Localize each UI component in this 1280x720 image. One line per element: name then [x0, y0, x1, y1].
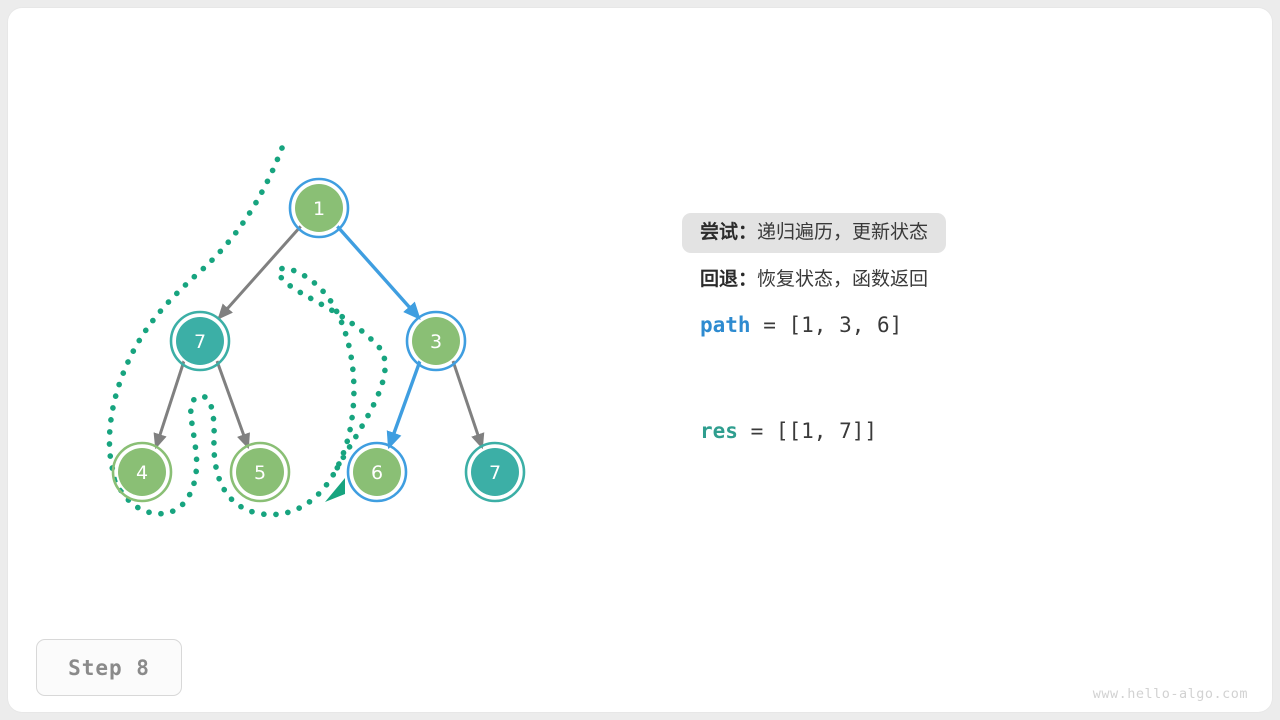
watermark: www.hello-algo.com	[1093, 686, 1248, 702]
node-1-label: 1	[313, 198, 325, 220]
node-7-left-label: 7	[194, 331, 206, 353]
node-6-label: 6	[371, 462, 383, 484]
path-value: [1, 3, 6]	[789, 313, 903, 337]
tree-node-1[interactable]: 1	[290, 179, 348, 237]
edge-1-to-3	[337, 226, 419, 318]
step-label: Step 8	[68, 656, 150, 680]
edge-1-to-7left	[219, 226, 301, 318]
try-row: 尝试：递归遍历，更新状态	[682, 213, 946, 253]
res-variable: res	[700, 419, 738, 443]
backtrack-row: 回退：恢复状态，函数返回	[686, 270, 1206, 289]
path-equals: =	[751, 313, 789, 337]
node-5-label: 5	[254, 462, 266, 484]
node-3-label: 3	[430, 331, 442, 353]
path-statement: path = [1, 3, 6]	[686, 313, 1206, 337]
try-value: 递归遍历，更新状态	[757, 221, 928, 243]
backtrack-label: 回退：	[700, 268, 757, 290]
edge-7left-to-5	[217, 361, 248, 447]
edge-3-to-6	[389, 361, 420, 447]
screenshot-root: 1 7 3 4	[0, 0, 1280, 720]
backtrack-value: 恢复状态，函数返回	[757, 268, 928, 290]
tree-node-7-right[interactable]: 7	[466, 443, 524, 501]
tree-nodes: 1 7 3 4	[113, 179, 524, 501]
edge-3-to-7right	[453, 361, 482, 447]
res-value: [[1, 7]]	[776, 419, 877, 443]
step-badge: Step 8	[36, 639, 182, 696]
trail-arrowhead	[325, 478, 345, 502]
node-7-right-label: 7	[489, 462, 501, 484]
node-4-label: 4	[136, 462, 148, 484]
tree-node-6[interactable]: 6	[348, 443, 406, 501]
tree-node-3[interactable]: 3	[407, 312, 465, 370]
tree-node-7-left[interactable]: 7	[171, 312, 229, 370]
edge-7left-to-4	[156, 361, 184, 447]
res-statement: res = [[1, 7]]	[686, 419, 1206, 443]
tree-node-4[interactable]: 4	[113, 443, 171, 501]
try-label: 尝试：	[700, 221, 757, 243]
res-equals: =	[738, 419, 776, 443]
tree-node-5[interactable]: 5	[231, 443, 289, 501]
path-variable: path	[700, 313, 751, 337]
info-panel: 尝试：递归遍历，更新状态 回退：恢复状态，函数返回 path = [1, 3, …	[686, 213, 1206, 443]
